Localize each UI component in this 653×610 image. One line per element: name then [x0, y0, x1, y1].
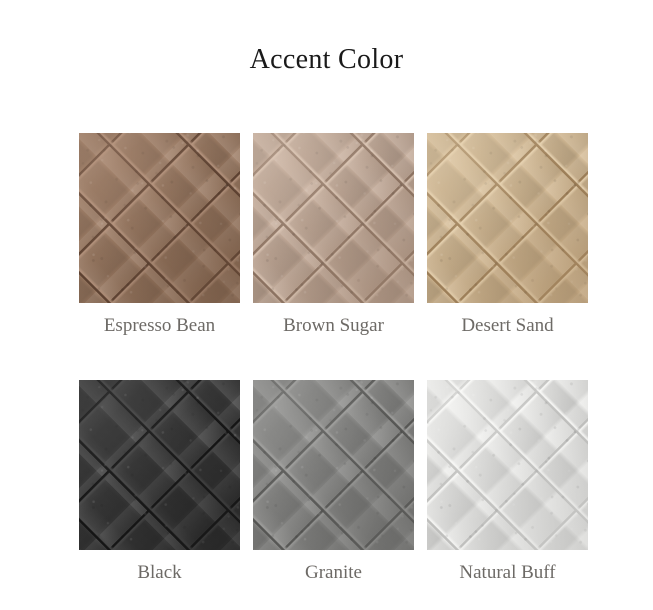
page-title: Accent Color — [0, 44, 653, 76]
swatch-tile-image[interactable] — [427, 133, 588, 303]
tile-shading-overlay — [427, 380, 588, 550]
swatch-label: Granite — [305, 561, 362, 585]
swatch-tile-image[interactable] — [253, 133, 414, 303]
swatch-label: Espresso Bean — [104, 314, 215, 338]
swatch-option-black[interactable]: Black — [79, 380, 240, 585]
swatch-option-desert-sand[interactable]: Desert Sand — [427, 133, 588, 338]
swatch-tile-image[interactable] — [79, 380, 240, 550]
swatch-row: Black Granite — [79, 380, 587, 585]
swatch-grid: Espresso Bean Brown Sugar — [79, 133, 587, 585]
swatch-option-brown-sugar[interactable]: Brown Sugar — [253, 133, 414, 338]
tile-shading-overlay — [79, 133, 240, 303]
swatch-option-espresso-bean[interactable]: Espresso Bean — [79, 133, 240, 338]
swatch-label: Desert Sand — [461, 314, 553, 338]
swatch-tile-image[interactable] — [427, 380, 588, 550]
swatch-option-granite[interactable]: Granite — [253, 380, 414, 585]
tile-shading-overlay — [79, 380, 240, 550]
tile-shading-overlay — [427, 133, 588, 303]
tile-shading-overlay — [253, 133, 414, 303]
swatch-tile-image[interactable] — [79, 133, 240, 303]
swatch-label: Brown Sugar — [283, 314, 384, 338]
swatch-label: Natural Buff — [459, 561, 555, 585]
tile-shading-overlay — [253, 380, 414, 550]
swatch-tile-image[interactable] — [253, 380, 414, 550]
swatch-option-natural-buff[interactable]: Natural Buff — [427, 380, 588, 585]
swatch-label: Black — [137, 561, 181, 585]
swatch-row: Espresso Bean Brown Sugar — [79, 133, 587, 338]
